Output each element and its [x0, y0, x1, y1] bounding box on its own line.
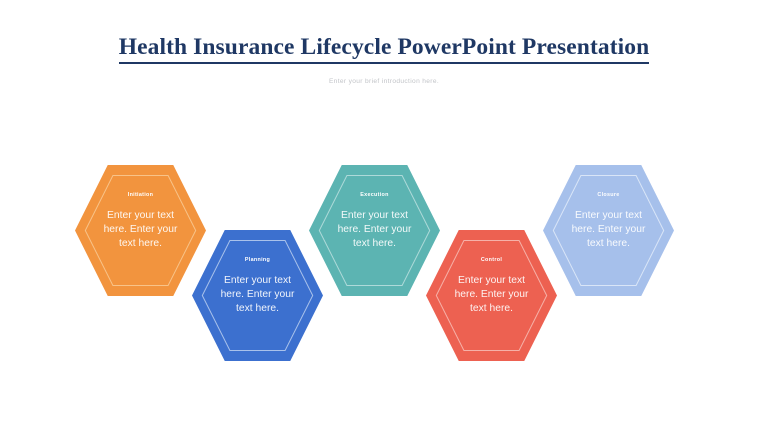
hexagon-outer-fill-3 — [309, 165, 440, 296]
hexagon-outer-fill-1 — [75, 165, 206, 296]
hexagon-shape-planning — [192, 230, 323, 361]
hexagon-outer-fill-2 — [192, 230, 323, 361]
hexagon-shape-closure — [543, 165, 674, 296]
hexagon-outer-fill-5 — [543, 165, 674, 296]
hexagon-step-execution[interactable]: Execution Enter your text here. Enter yo… — [309, 165, 440, 296]
hexagon-process-diagram: Initiation Enter your text here. Enter y… — [0, 0, 768, 432]
hexagon-outer-fill-4 — [426, 230, 557, 361]
hexagon-shape-execution — [309, 165, 440, 296]
hexagon-step-control[interactable]: Control Enter your text here. Enter your… — [426, 230, 557, 361]
hexagon-shape-initiation — [75, 165, 206, 296]
hexagon-step-closure[interactable]: Closure Enter your text here. Enter your… — [543, 165, 674, 296]
hexagon-step-planning[interactable]: Planning Enter your text here. Enter you… — [192, 230, 323, 361]
hexagon-step-initiation[interactable]: Initiation Enter your text here. Enter y… — [75, 165, 206, 296]
presentation-slide: Health Insurance Lifecycle PowerPoint Pr… — [0, 0, 768, 432]
hexagon-shape-control — [426, 230, 557, 361]
